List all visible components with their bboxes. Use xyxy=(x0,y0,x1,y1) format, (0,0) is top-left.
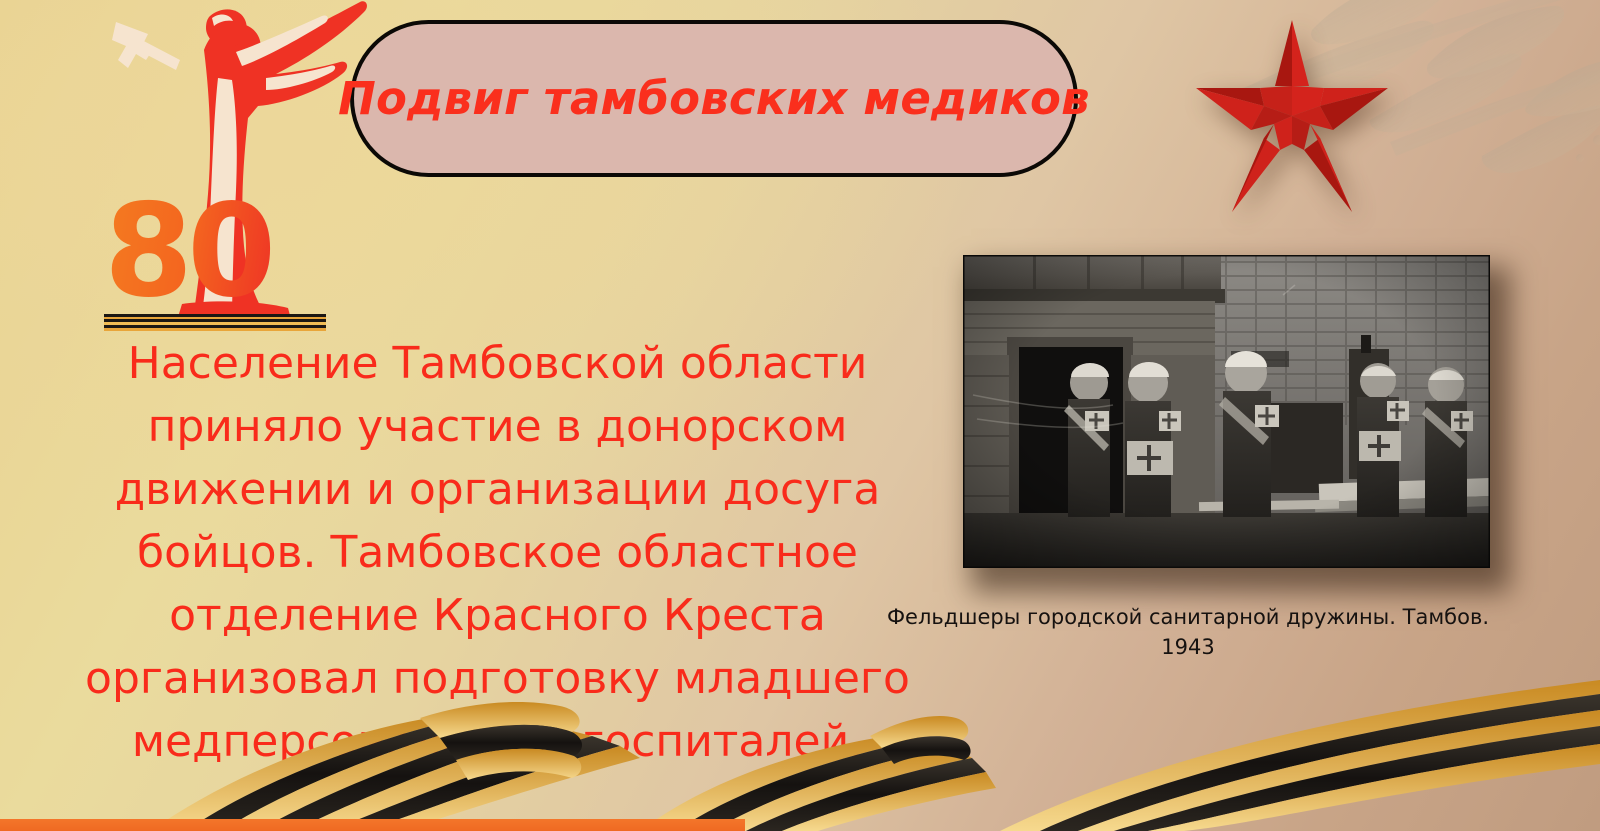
anniversary-number: 80 xyxy=(104,196,334,308)
motherland-calls-statue-icon xyxy=(108,0,378,334)
page-title: Подвиг тамбовских медиков xyxy=(338,72,1090,125)
st-george-ribbon-bar xyxy=(104,314,326,331)
bottom-accent-bar xyxy=(0,819,745,831)
photo-caption: Фельдшеры городской санитарной дружины. … xyxy=(878,602,1498,662)
red-star-icon xyxy=(1192,12,1392,217)
photo-content xyxy=(963,255,1490,568)
slide-title-pill: Подвиг тамбовских медиков xyxy=(350,20,1078,177)
anniversary-logo: 80 xyxy=(104,196,334,336)
slide-body-text: Население Тамбовской области приняло уча… xyxy=(40,332,955,773)
olive-branch-icon xyxy=(1200,0,1600,270)
presentation-slide: 80 Подвиг тамбовских медиков Население Т xyxy=(0,0,1600,831)
archival-photograph xyxy=(963,255,1490,568)
